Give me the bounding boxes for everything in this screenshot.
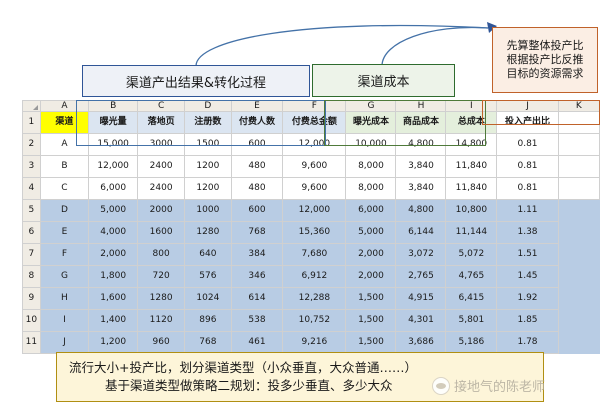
callout-bottom-line1: 流行大小+投产比，划分渠道类型（小众垂直，大众普通……） xyxy=(57,359,417,377)
cell-f8[interactable]: 6,912 xyxy=(283,266,346,288)
row-header-10[interactable]: 10 xyxy=(23,310,41,332)
header-cell-i[interactable]: 总成本 xyxy=(446,112,497,134)
cell-j9[interactable]: 1.92 xyxy=(497,288,558,310)
cell-j10[interactable]: 1.85 xyxy=(497,310,558,332)
cell-b11[interactable]: 1,200 xyxy=(89,332,138,354)
column-header-row: A B C D E F G H I J K xyxy=(23,101,600,112)
cell-e3[interactable]: 480 xyxy=(231,156,283,178)
table-row[interactable]: 5D5,0002000100060012,0006,0004,80010,800… xyxy=(23,200,600,222)
col-header-b[interactable]: B xyxy=(89,101,138,112)
cell-e2[interactable]: 600 xyxy=(231,134,283,156)
cell-d9[interactable]: 1024 xyxy=(184,288,231,310)
cell-j4[interactable]: 0.81 xyxy=(497,178,558,200)
callout-cost-text: 渠道成本 xyxy=(357,71,409,90)
col-header-d[interactable]: D xyxy=(184,101,231,112)
cell-f3[interactable]: 9,600 xyxy=(283,156,346,178)
header-cell-e[interactable]: 付费人数 xyxy=(231,112,283,134)
cell-g3[interactable]: 8,000 xyxy=(346,156,396,178)
col-header-a[interactable]: A xyxy=(40,101,88,112)
cell-k4[interactable] xyxy=(558,178,599,200)
cell-i11[interactable]: 5,186 xyxy=(446,332,497,354)
header-cell-g[interactable]: 曝光成本 xyxy=(346,112,396,134)
cell-c7[interactable]: 800 xyxy=(138,244,185,266)
row-header-11[interactable]: 11 xyxy=(23,332,41,354)
col-header-h[interactable]: H xyxy=(396,101,446,112)
row-header-2[interactable]: 2 xyxy=(23,134,41,156)
cell-i7[interactable]: 5,072 xyxy=(446,244,497,266)
row-header-4[interactable]: 4 xyxy=(23,178,41,200)
col-header-i[interactable]: I xyxy=(446,101,497,112)
cell-j5[interactable]: 1.11 xyxy=(497,200,558,222)
cell-b10[interactable]: 1,400 xyxy=(89,310,138,332)
callout-roi-line1: 先算整体投产比 xyxy=(507,39,584,53)
row-header-6[interactable]: 6 xyxy=(23,222,41,244)
row-header-9[interactable]: 9 xyxy=(23,288,41,310)
row-header-5[interactable]: 5 xyxy=(23,200,41,222)
cell-k2[interactable] xyxy=(558,134,599,156)
col-header-f[interactable]: F xyxy=(283,101,346,112)
cell-d2[interactable]: 1500 xyxy=(184,134,231,156)
cell-c5[interactable]: 2000 xyxy=(138,200,185,222)
cell-h9[interactable]: 4,915 xyxy=(396,288,446,310)
callout-channel-output: 渠道产出结果&转化过程 xyxy=(82,65,310,97)
cell-h3[interactable]: 3,840 xyxy=(396,156,446,178)
cell-i2[interactable]: 14,800 xyxy=(446,134,497,156)
watermark: 接地气的陈老师 xyxy=(432,376,545,395)
cell-j8[interactable]: 1.45 xyxy=(497,266,558,288)
cell-h2[interactable]: 4,800 xyxy=(396,134,446,156)
table-row[interactable]: 3B12,000240012004809,6008,0003,84011,840… xyxy=(23,156,600,178)
cell-f5[interactable]: 12,000 xyxy=(283,200,346,222)
cell-d3[interactable]: 1200 xyxy=(184,156,231,178)
cell-c4[interactable]: 2400 xyxy=(138,178,185,200)
cell-e5[interactable]: 600 xyxy=(231,200,283,222)
cell-j6[interactable]: 1.38 xyxy=(497,222,558,244)
callout-roi-line3: 目标的资源需求 xyxy=(507,67,584,81)
select-all-corner[interactable] xyxy=(23,101,41,112)
cell-e7[interactable]: 384 xyxy=(231,244,283,266)
header-cell-h[interactable]: 商品成本 xyxy=(396,112,446,134)
cell-g10[interactable]: 1,500 xyxy=(346,310,396,332)
cell-a8[interactable]: G xyxy=(40,266,88,288)
cell-c11[interactable]: 960 xyxy=(138,332,185,354)
cell-h6[interactable]: 6,144 xyxy=(396,222,446,244)
cell-i8[interactable]: 4,765 xyxy=(446,266,497,288)
cell-a10[interactable]: I xyxy=(40,310,88,332)
cell-h10[interactable]: 4,301 xyxy=(396,310,446,332)
cell-e6[interactable]: 768 xyxy=(231,222,283,244)
cell-a9[interactable]: H xyxy=(40,288,88,310)
callout-bottom-line2: 基于渠道类型做策略二规划：投多少垂直、多少大众 xyxy=(57,377,393,395)
row-header-8[interactable]: 8 xyxy=(23,266,41,288)
cell-c9[interactable]: 1280 xyxy=(138,288,185,310)
cell-a5[interactable]: D xyxy=(40,200,88,222)
cell-i3[interactable]: 11,840 xyxy=(446,156,497,178)
table-row[interactable]: 7F2,0008006403847,6802,0003,0725,0721.51 xyxy=(23,244,600,266)
cell-b7[interactable]: 2,000 xyxy=(89,244,138,266)
cell-k6[interactable] xyxy=(558,222,599,244)
cell-b3[interactable]: 12,000 xyxy=(89,156,138,178)
callout-roi-line2: 根据投产比反推 xyxy=(507,53,584,67)
table-row[interactable]: 9H1,6001280102461412,2881,5004,9156,4151… xyxy=(23,288,600,310)
cell-c3[interactable]: 2400 xyxy=(138,156,185,178)
cell-d11[interactable]: 768 xyxy=(184,332,231,354)
cell-d6[interactable]: 1280 xyxy=(184,222,231,244)
cell-e11[interactable]: 461 xyxy=(231,332,283,354)
cell-f10[interactable]: 10,752 xyxy=(283,310,346,332)
row-header-7[interactable]: 7 xyxy=(23,244,41,266)
cell-a7[interactable]: F xyxy=(40,244,88,266)
header-cell-b[interactable]: 曝光量 xyxy=(89,112,138,134)
table-row[interactable]: 4C6,000240012004809,6008,0003,84011,8400… xyxy=(23,178,600,200)
cell-h4[interactable]: 3,840 xyxy=(396,178,446,200)
cell-j7[interactable]: 1.51 xyxy=(497,244,558,266)
cell-i9[interactable]: 6,415 xyxy=(446,288,497,310)
callout-roi-note: 先算整体投产比 根据投产比反推 目标的资源需求 xyxy=(492,27,598,93)
cell-f2[interactable]: 12,000 xyxy=(283,134,346,156)
callout-output-text: 渠道产出结果&转化过程 xyxy=(126,72,266,91)
cell-h11[interactable]: 3,686 xyxy=(396,332,446,354)
cell-f11[interactable]: 9,216 xyxy=(283,332,346,354)
cell-d8[interactable]: 576 xyxy=(184,266,231,288)
watermark-logo-icon xyxy=(432,377,450,395)
cell-d7[interactable]: 640 xyxy=(184,244,231,266)
cell-a11[interactable]: J xyxy=(40,332,88,354)
cell-k8[interactable] xyxy=(558,266,599,288)
cell-b5[interactable]: 5,000 xyxy=(89,200,138,222)
cell-f7[interactable]: 7,680 xyxy=(283,244,346,266)
cell-i4[interactable]: 11,840 xyxy=(446,178,497,200)
cell-h7[interactable]: 3,072 xyxy=(396,244,446,266)
cell-g7[interactable]: 2,000 xyxy=(346,244,396,266)
cell-c2[interactable]: 3000 xyxy=(138,134,185,156)
cell-f9[interactable]: 12,288 xyxy=(283,288,346,310)
cell-j11[interactable]: 1.78 xyxy=(497,332,558,354)
col-header-k[interactable]: K xyxy=(558,101,599,112)
cell-j2[interactable]: 0.81 xyxy=(497,134,558,156)
cell-k5[interactable] xyxy=(558,200,599,222)
cell-e9[interactable]: 614 xyxy=(231,288,283,310)
header-cell-c[interactable]: 落地页 xyxy=(138,112,185,134)
cell-a4[interactable]: C xyxy=(40,178,88,200)
cell-e4[interactable]: 480 xyxy=(231,178,283,200)
cell-k7[interactable] xyxy=(558,244,599,266)
cell-i5[interactable]: 10,800 xyxy=(446,200,497,222)
cell-d5[interactable]: 1000 xyxy=(184,200,231,222)
header-cell-d[interactable]: 注册数 xyxy=(184,112,231,134)
cell-f4[interactable]: 9,600 xyxy=(283,178,346,200)
header-cell-j[interactable]: 投入产出比 xyxy=(497,112,558,134)
cell-a3[interactable]: B xyxy=(40,156,88,178)
cell-i10[interactable]: 5,801 xyxy=(446,310,497,332)
cell-a2[interactable]: A xyxy=(40,134,88,156)
table-row[interactable]: 11J1,2009607684619,2161,5003,6865,1861.7… xyxy=(23,332,600,354)
col-header-g[interactable]: G xyxy=(346,101,396,112)
table-row[interactable]: 2A15,0003000150060012,00010,0004,80014,8… xyxy=(23,134,600,156)
cell-i6[interactable]: 11,144 xyxy=(446,222,497,244)
cell-g4[interactable]: 8,000 xyxy=(346,178,396,200)
row-header-3[interactable]: 3 xyxy=(23,156,41,178)
cell-h5[interactable]: 4,800 xyxy=(396,200,446,222)
arrow-output-to-roi xyxy=(196,26,488,66)
cell-k3[interactable] xyxy=(558,156,599,178)
callout-channel-cost: 渠道成本 xyxy=(312,64,455,97)
cell-g2[interactable]: 10,000 xyxy=(346,134,396,156)
cell-k9[interactable] xyxy=(558,288,599,310)
cell-g6[interactable]: 5,000 xyxy=(346,222,396,244)
cell-c10[interactable]: 1120 xyxy=(138,310,185,332)
header-cell-a[interactable]: 渠道 xyxy=(40,112,88,134)
table-row[interactable]: 6E4,0001600128076815,3605,0006,14411,144… xyxy=(23,222,600,244)
cell-f6[interactable]: 15,360 xyxy=(283,222,346,244)
cell-g5[interactable]: 6,000 xyxy=(346,200,396,222)
col-header-c[interactable]: C xyxy=(138,101,185,112)
arrow-cost-to-roi xyxy=(382,27,488,66)
cell-d10[interactable]: 896 xyxy=(184,310,231,332)
cell-c8[interactable]: 720 xyxy=(138,266,185,288)
col-header-e[interactable]: E xyxy=(231,101,283,112)
spreadsheet-grid[interactable]: A B C D E F G H I J K 1渠道曝光量落地页注册数付费人数付费… xyxy=(22,100,600,354)
row-header-1[interactable]: 1 xyxy=(23,112,41,134)
cell-b6[interactable]: 4,000 xyxy=(89,222,138,244)
cell-a6[interactable]: E xyxy=(40,222,88,244)
slide-canvas: A B C D E F G H I J K 1渠道曝光量落地页注册数付费人数付费… xyxy=(0,0,600,414)
table-row[interactable]: 8G1,8007205763466,9122,0002,7654,7651.45 xyxy=(23,266,600,288)
cell-e8[interactable]: 346 xyxy=(231,266,283,288)
cell-g9[interactable]: 1,500 xyxy=(346,288,396,310)
table-row[interactable]: 1渠道曝光量落地页注册数付费人数付费总金额曝光成本商品成本总成本投入产出比 xyxy=(23,112,600,134)
watermark-text: 接地气的陈老师 xyxy=(454,376,545,395)
cell-b8[interactable]: 1,800 xyxy=(89,266,138,288)
cell-k11[interactable] xyxy=(558,332,599,354)
cell-k10[interactable] xyxy=(558,310,599,332)
col-header-j[interactable]: J xyxy=(497,101,558,112)
cell-g8[interactable]: 2,000 xyxy=(346,266,396,288)
cell-b2[interactable]: 15,000 xyxy=(89,134,138,156)
header-cell-f[interactable]: 付费总金额 xyxy=(283,112,346,134)
header-cell-k[interactable] xyxy=(558,112,599,134)
cell-e10[interactable]: 538 xyxy=(231,310,283,332)
cell-b4[interactable]: 6,000 xyxy=(89,178,138,200)
cell-b9[interactable]: 1,600 xyxy=(89,288,138,310)
table-row[interactable]: 10I1,400112089653810,7521,5004,3015,8011… xyxy=(23,310,600,332)
cell-d4[interactable]: 1200 xyxy=(184,178,231,200)
cell-g11[interactable]: 1,500 xyxy=(346,332,396,354)
cell-c6[interactable]: 1600 xyxy=(138,222,185,244)
cell-j3[interactable]: 0.81 xyxy=(497,156,558,178)
cell-h8[interactable]: 2,765 xyxy=(396,266,446,288)
